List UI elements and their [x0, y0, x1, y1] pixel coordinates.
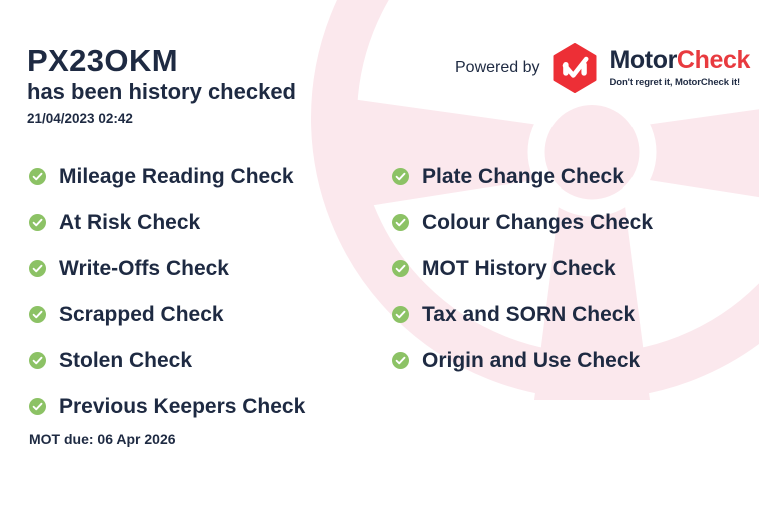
- list-item: Colour Changes Check: [392, 199, 653, 245]
- check-item-label: Previous Keepers Check: [59, 396, 305, 417]
- check-circle-icon: [392, 260, 409, 277]
- list-item: Write-Offs Check: [29, 245, 305, 291]
- motorcheck-tagline: Don't regret it, MotorCheck it!: [610, 77, 741, 88]
- checks-column-left: Mileage Reading Check At Risk Check Writ…: [29, 153, 305, 429]
- wordmark-check: Check: [677, 46, 750, 74]
- check-circle-icon: [29, 168, 46, 185]
- check-item-label: Mileage Reading Check: [59, 166, 294, 187]
- list-item: Scrapped Check: [29, 291, 305, 337]
- list-item: At Risk Check: [29, 199, 305, 245]
- list-item: MOT History Check: [392, 245, 653, 291]
- check-circle-icon: [392, 306, 409, 323]
- check-circle-icon: [29, 398, 46, 415]
- check-circle-icon: [392, 214, 409, 231]
- check-item-label: Origin and Use Check: [422, 350, 640, 371]
- check-timestamp: 21/04/2023 02:42: [27, 111, 296, 126]
- banner-content: PX23OKM has been history checked 21/04/2…: [0, 0, 759, 506]
- list-item: Plate Change Check: [392, 153, 653, 199]
- banner-heading-group: PX23OKM has been history checked 21/04/2…: [27, 44, 296, 126]
- checks-column-right: Plate Change Check Colour Changes Check …: [392, 153, 653, 383]
- check-circle-icon: [29, 352, 46, 369]
- list-item: Mileage Reading Check: [29, 153, 305, 199]
- list-item: Origin and Use Check: [392, 337, 653, 383]
- check-item-label: Scrapped Check: [59, 304, 224, 325]
- motorcheck-wordmark: MotorCheck: [610, 46, 750, 74]
- check-item-label: At Risk Check: [59, 212, 200, 233]
- wordmark-motor: Motor: [610, 46, 677, 74]
- vehicle-registration-plate: PX23OKM: [27, 44, 296, 77]
- list-item: Tax and SORN Check: [392, 291, 653, 337]
- mot-due-text: MOT due: 06 Apr 2026: [29, 431, 176, 447]
- check-circle-icon: [29, 260, 46, 277]
- check-item-label: Tax and SORN Check: [422, 304, 635, 325]
- motorcheck-wordmark-group: MotorCheck Don't regret it, MotorCheck i…: [610, 48, 759, 89]
- check-circle-icon: [29, 306, 46, 323]
- check-circle-icon: [392, 352, 409, 369]
- list-item: Previous Keepers Check: [29, 383, 305, 429]
- page-subtitle: has been history checked: [27, 79, 296, 106]
- check-circle-icon: [29, 214, 46, 231]
- check-item-label: Write-Offs Check: [59, 258, 229, 279]
- check-item-label: Stolen Check: [59, 350, 192, 371]
- check-item-label: Colour Changes Check: [422, 212, 653, 233]
- check-circle-icon: [392, 168, 409, 185]
- motorcheck-hexagon-logo-icon: [552, 43, 598, 93]
- powered-by-block: Powered by MotorCheck Don't regret it, M…: [455, 43, 759, 93]
- history-check-banner: PX23OKM has been history checked 21/04/2…: [0, 0, 759, 506]
- powered-by-label: Powered by: [455, 59, 540, 77]
- check-item-label: Plate Change Check: [422, 166, 624, 187]
- check-item-label: MOT History Check: [422, 258, 616, 279]
- list-item: Stolen Check: [29, 337, 305, 383]
